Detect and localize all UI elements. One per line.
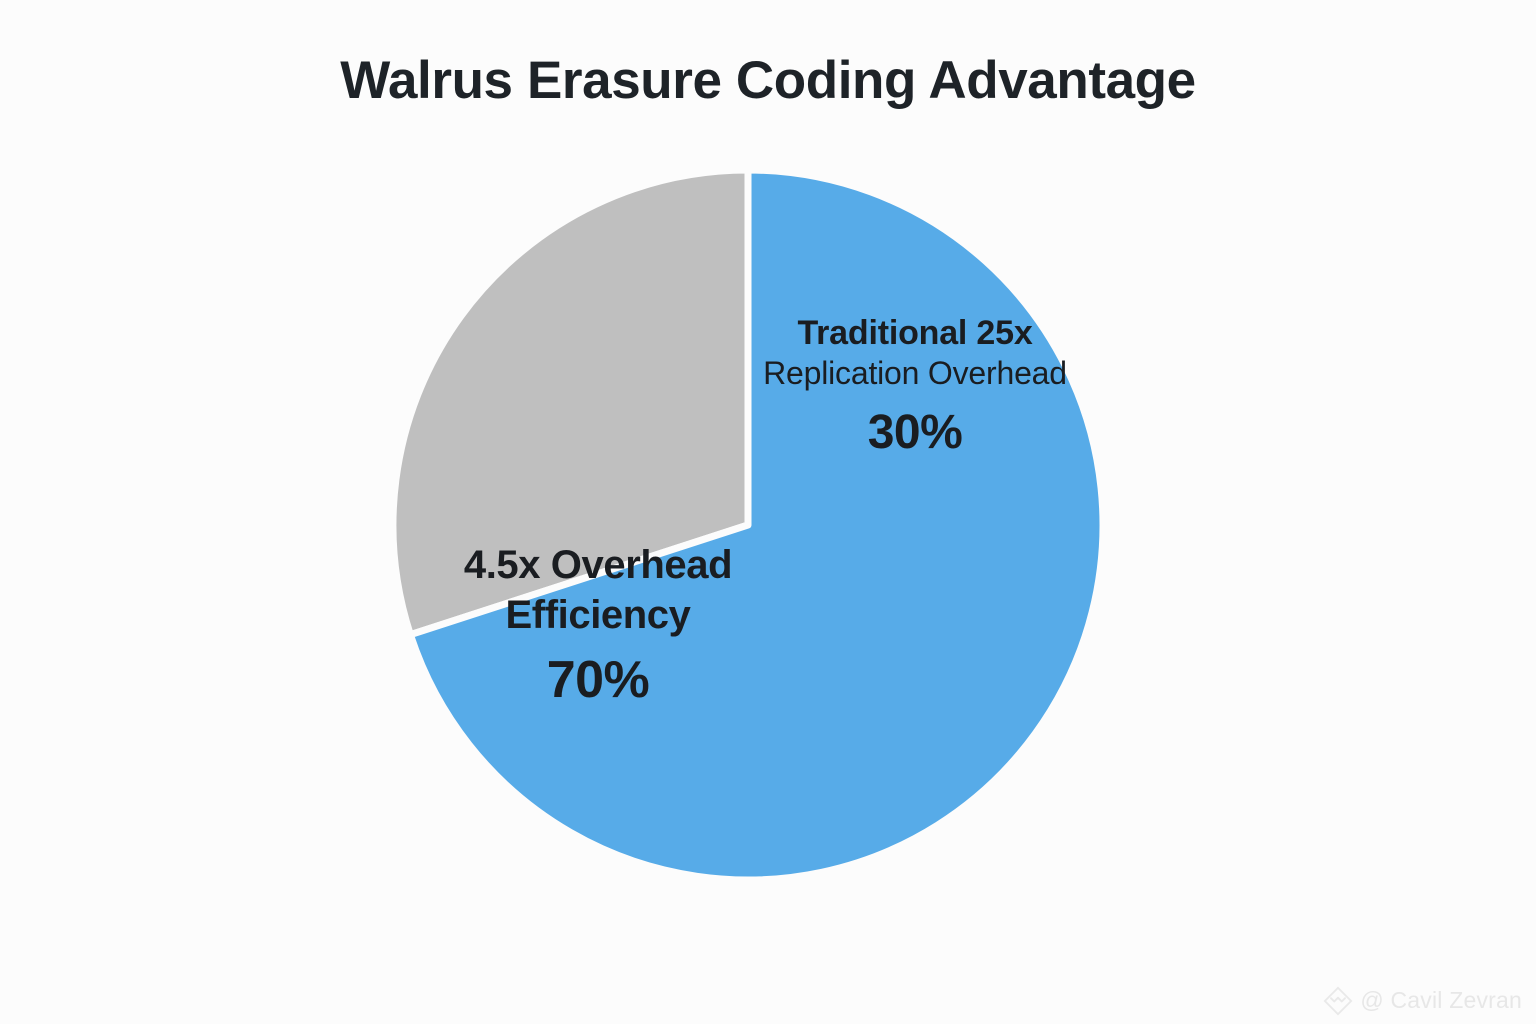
pie-label-walrus-percent: 70% (396, 650, 800, 711)
pie-label-traditional-percent: 30% (713, 405, 1117, 462)
watermark: @ Cavil Zevran (1323, 986, 1522, 1016)
chart-canvas: Walrus Erasure Coding Advantage Traditio… (0, 0, 1536, 1024)
pie-label-walrus-line1: 4.5x Overhead (396, 542, 800, 589)
watermark-handle: @ Cavil Zevran (1360, 989, 1522, 1014)
pie-label-traditional-line1: Traditional 25x (713, 313, 1117, 353)
pie-label-walrus-erasure-coding: 4.5x Overhead Efficiency 70% (396, 542, 800, 712)
chart-title: Walrus Erasure Coding Advantage (0, 50, 1536, 111)
diamond-logo-icon (1323, 986, 1353, 1016)
pie-chart (393, 170, 1103, 880)
pie-label-walrus-line2: Efficiency (396, 592, 800, 639)
pie-label-traditional-line2: Replication Overhead (713, 355, 1117, 393)
pie-chart-svg (393, 170, 1103, 880)
pie-label-traditional-replication: Traditional 25x Replication Overhead 30% (713, 313, 1117, 461)
